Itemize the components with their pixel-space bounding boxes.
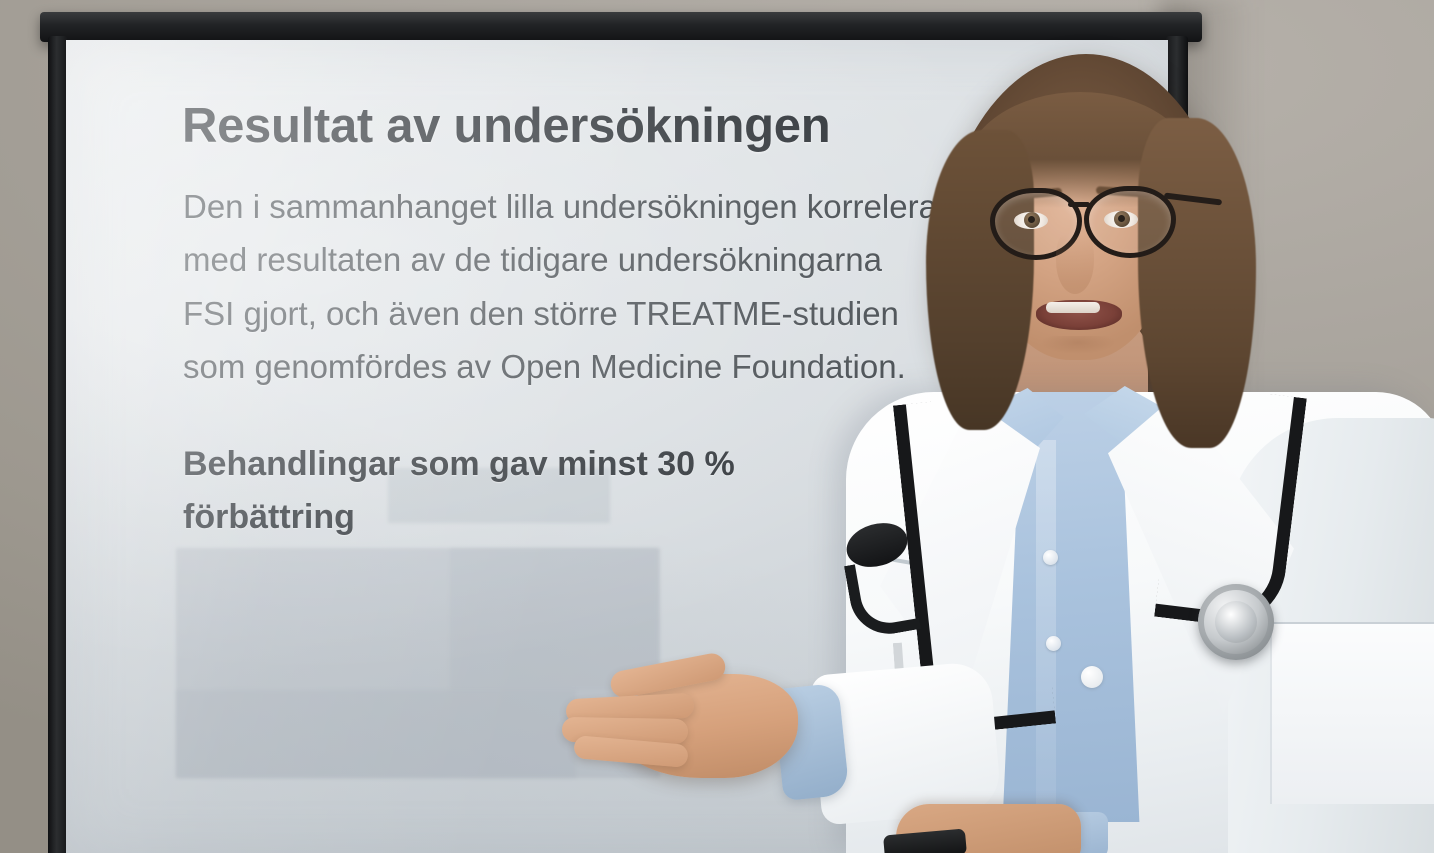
gesturing-hand bbox=[548, 650, 848, 810]
screen-left-frame-rail bbox=[48, 36, 67, 853]
eyeglasses-bridge bbox=[1068, 202, 1090, 207]
lab-coat-button bbox=[1081, 666, 1103, 688]
presenter bbox=[528, 0, 1434, 853]
shirt-button bbox=[1043, 550, 1058, 565]
nose bbox=[1056, 228, 1094, 294]
lab-coat-pocket bbox=[1270, 622, 1434, 804]
screenshot-root: Resultat av undersökningen Den i sammanh… bbox=[0, 0, 1434, 853]
placeholder-block-lower bbox=[176, 690, 576, 778]
stethoscope-chestpiece bbox=[1198, 584, 1274, 660]
teeth bbox=[1046, 302, 1100, 313]
chin-shadow bbox=[1028, 336, 1128, 358]
hair-right-side bbox=[1138, 118, 1256, 448]
lower-hand bbox=[876, 798, 1106, 853]
